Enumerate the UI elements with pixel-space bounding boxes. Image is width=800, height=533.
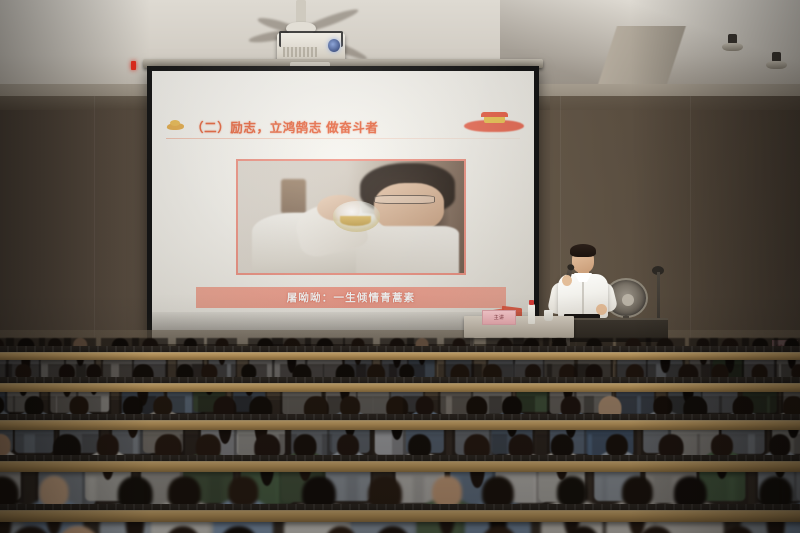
audience-member (30, 526, 125, 533)
audience-head (57, 526, 98, 533)
audience-head (724, 526, 754, 533)
audience-member (548, 526, 618, 533)
desk-row (0, 420, 800, 430)
audience-head (374, 526, 411, 533)
audience-member (773, 526, 800, 533)
desk-row (0, 383, 800, 392)
audience-member (617, 526, 697, 533)
audience-head (415, 396, 434, 416)
placard-text: 主讲 (494, 314, 505, 321)
water-bottle (528, 304, 535, 324)
desk-row (0, 352, 800, 360)
audience-head (481, 526, 517, 533)
ceiling-spotlight (772, 52, 781, 62)
red-indicator-light (131, 61, 136, 70)
photo-flask-liquid (340, 216, 372, 226)
audience-member (457, 526, 540, 533)
lecture-hall-photo: （二）励志，立鸿鹄志 做奋斗者 (0, 0, 800, 533)
photo-subject-glasses (374, 195, 435, 204)
audience-head (69, 396, 88, 416)
audience-head (96, 434, 118, 458)
slide-caption: 屠呦呦：一生倾情青蒿素 (287, 290, 416, 305)
audience-head (218, 526, 258, 533)
audience-head (568, 526, 599, 533)
audience-head (25, 396, 44, 416)
paper-cup (544, 310, 553, 321)
audience-head (639, 526, 674, 533)
gold-seal-icon (166, 120, 185, 133)
audience-head (432, 476, 462, 507)
ceiling-spotlight (728, 34, 737, 44)
wall-seam (690, 96, 691, 356)
audience-member (351, 526, 435, 533)
audience-head (606, 434, 628, 457)
projector-lens-icon (328, 39, 340, 52)
slide-photo (236, 159, 466, 275)
audience-head (769, 434, 790, 457)
name-placard: 主讲 (482, 310, 516, 325)
audience (0, 330, 800, 533)
projector-vent (283, 47, 317, 57)
desk-row (0, 461, 800, 472)
audience-member (705, 526, 773, 533)
audience-member (192, 526, 285, 533)
presentation-slide: （二）励志，立鸿鹄志 做奋斗者 (152, 71, 534, 344)
tiananmen-gate-icon (464, 111, 524, 133)
projection-screen: （二）励志，立鸿鹄志 做奋斗者 (147, 66, 539, 349)
audience-head (39, 476, 68, 507)
title-divider (166, 138, 520, 139)
audience-head (337, 434, 359, 457)
presenter-right-hand (596, 304, 607, 315)
depth-shading (773, 526, 800, 533)
screen-surface: （二）励志，立鸿鹄志 做奋斗者 (152, 71, 534, 344)
desk-row (0, 510, 800, 522)
audience-head (557, 476, 587, 508)
presenter-shirt-placket (582, 278, 584, 316)
slide-caption-bar: 屠呦呦：一生倾情青蒿素 (196, 287, 506, 308)
audience-head (622, 476, 652, 508)
audience-head (229, 476, 258, 507)
wall-seam (94, 96, 95, 346)
photo-subject-face (374, 183, 444, 231)
photo-lab-coat-right (356, 226, 460, 275)
audience-head (711, 434, 733, 457)
slide-title: （二）励志，立鸿鹄志 做奋斗者 (191, 117, 378, 136)
presenter-hair (570, 244, 596, 257)
photo-lab-bottle (281, 179, 306, 213)
presenter-left-hand (562, 275, 572, 286)
